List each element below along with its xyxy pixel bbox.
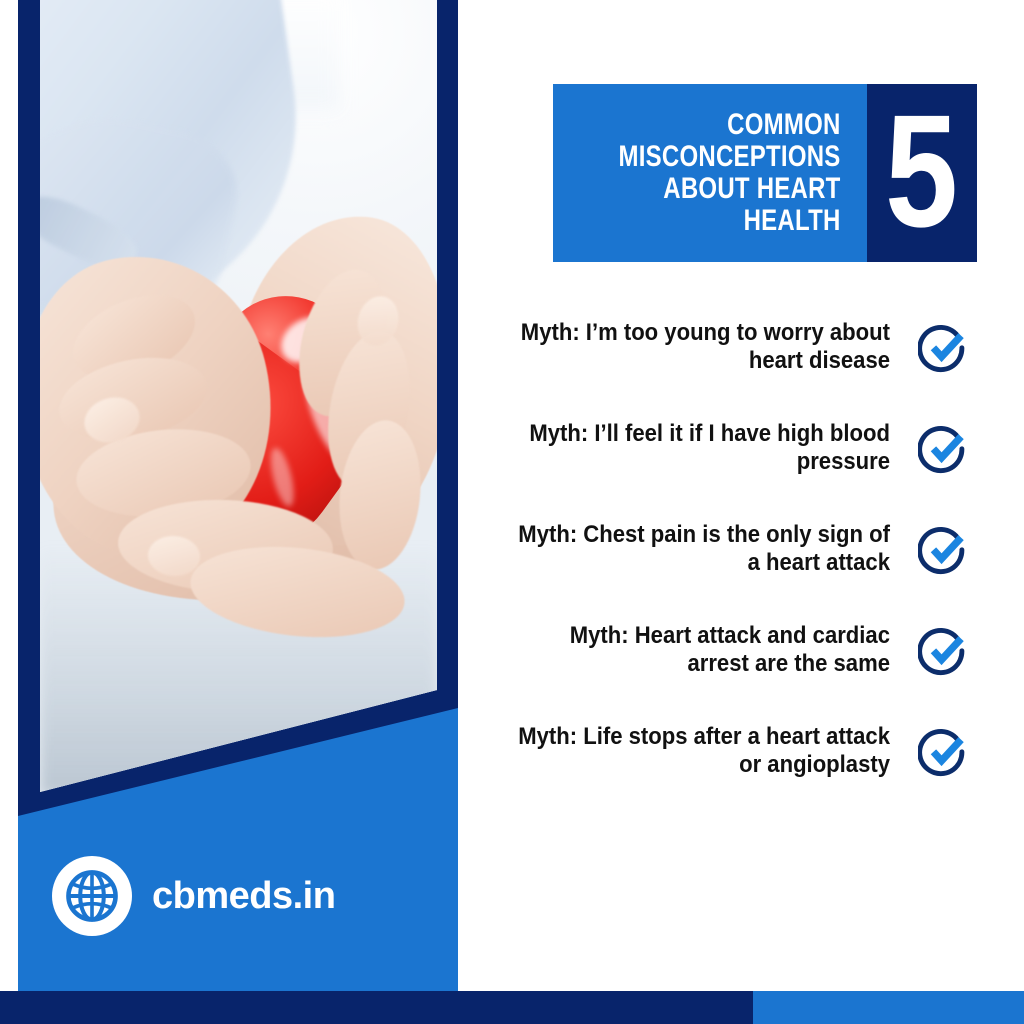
check-circle-icon [918, 725, 970, 777]
myth-text: Myth: Life stops after a heart attack or… [504, 723, 890, 779]
bottom-bar [0, 991, 1024, 1024]
myth-text: Myth: I’m too young to worry about heart… [504, 319, 890, 375]
list-item[interactable]: Myth: Life stops after a heart attack or… [470, 700, 970, 801]
myth-list: Myth: I’m too young to worry about heart… [470, 296, 970, 801]
list-item[interactable]: Myth: Heart attack and cardiac arrest ar… [470, 599, 970, 700]
globe-icon [52, 856, 132, 936]
myth-text: Myth: I’ll feel it if I have high blood … [504, 420, 890, 476]
hero-photo-artwork [40, 0, 437, 795]
bottom-bar-blue-segment [753, 991, 1024, 1024]
myth-text: Myth: Heart attack and cardiac arrest ar… [504, 622, 890, 678]
infographic-canvas: cbmeds.in COMMON MISCONCEPTIONS ABOUT HE… [0, 0, 1024, 1024]
check-circle-icon [918, 422, 970, 474]
bottom-bar-navy-segment [0, 991, 753, 1024]
list-item[interactable]: Myth: Chest pain is the only sign of a h… [470, 498, 970, 599]
check-circle-icon [918, 624, 970, 676]
header-banner: COMMON MISCONCEPTIONS ABOUT HEART HEALTH… [553, 84, 969, 262]
hero-photo [40, 0, 437, 795]
brand-logo-row[interactable]: cbmeds.in [52, 856, 335, 936]
left-visual-panel: cbmeds.in [0, 0, 480, 995]
myth-text: Myth: Chest pain is the only sign of a h… [504, 521, 890, 577]
list-item[interactable]: Myth: I’ll feel it if I have high blood … [470, 397, 970, 498]
header-number-cell: 5 [867, 84, 977, 262]
header-title-cell: COMMON MISCONCEPTIONS ABOUT HEART HEALTH [553, 84, 867, 262]
page-title: COMMON MISCONCEPTIONS ABOUT HEART HEALTH [619, 109, 841, 236]
check-circle-icon [918, 321, 970, 373]
check-circle-icon [918, 523, 970, 575]
list-item[interactable]: Myth: I’m too young to worry about heart… [470, 296, 970, 397]
brand-website-label: cbmeds.in [152, 877, 335, 915]
header-count-number: 5 [885, 102, 958, 240]
